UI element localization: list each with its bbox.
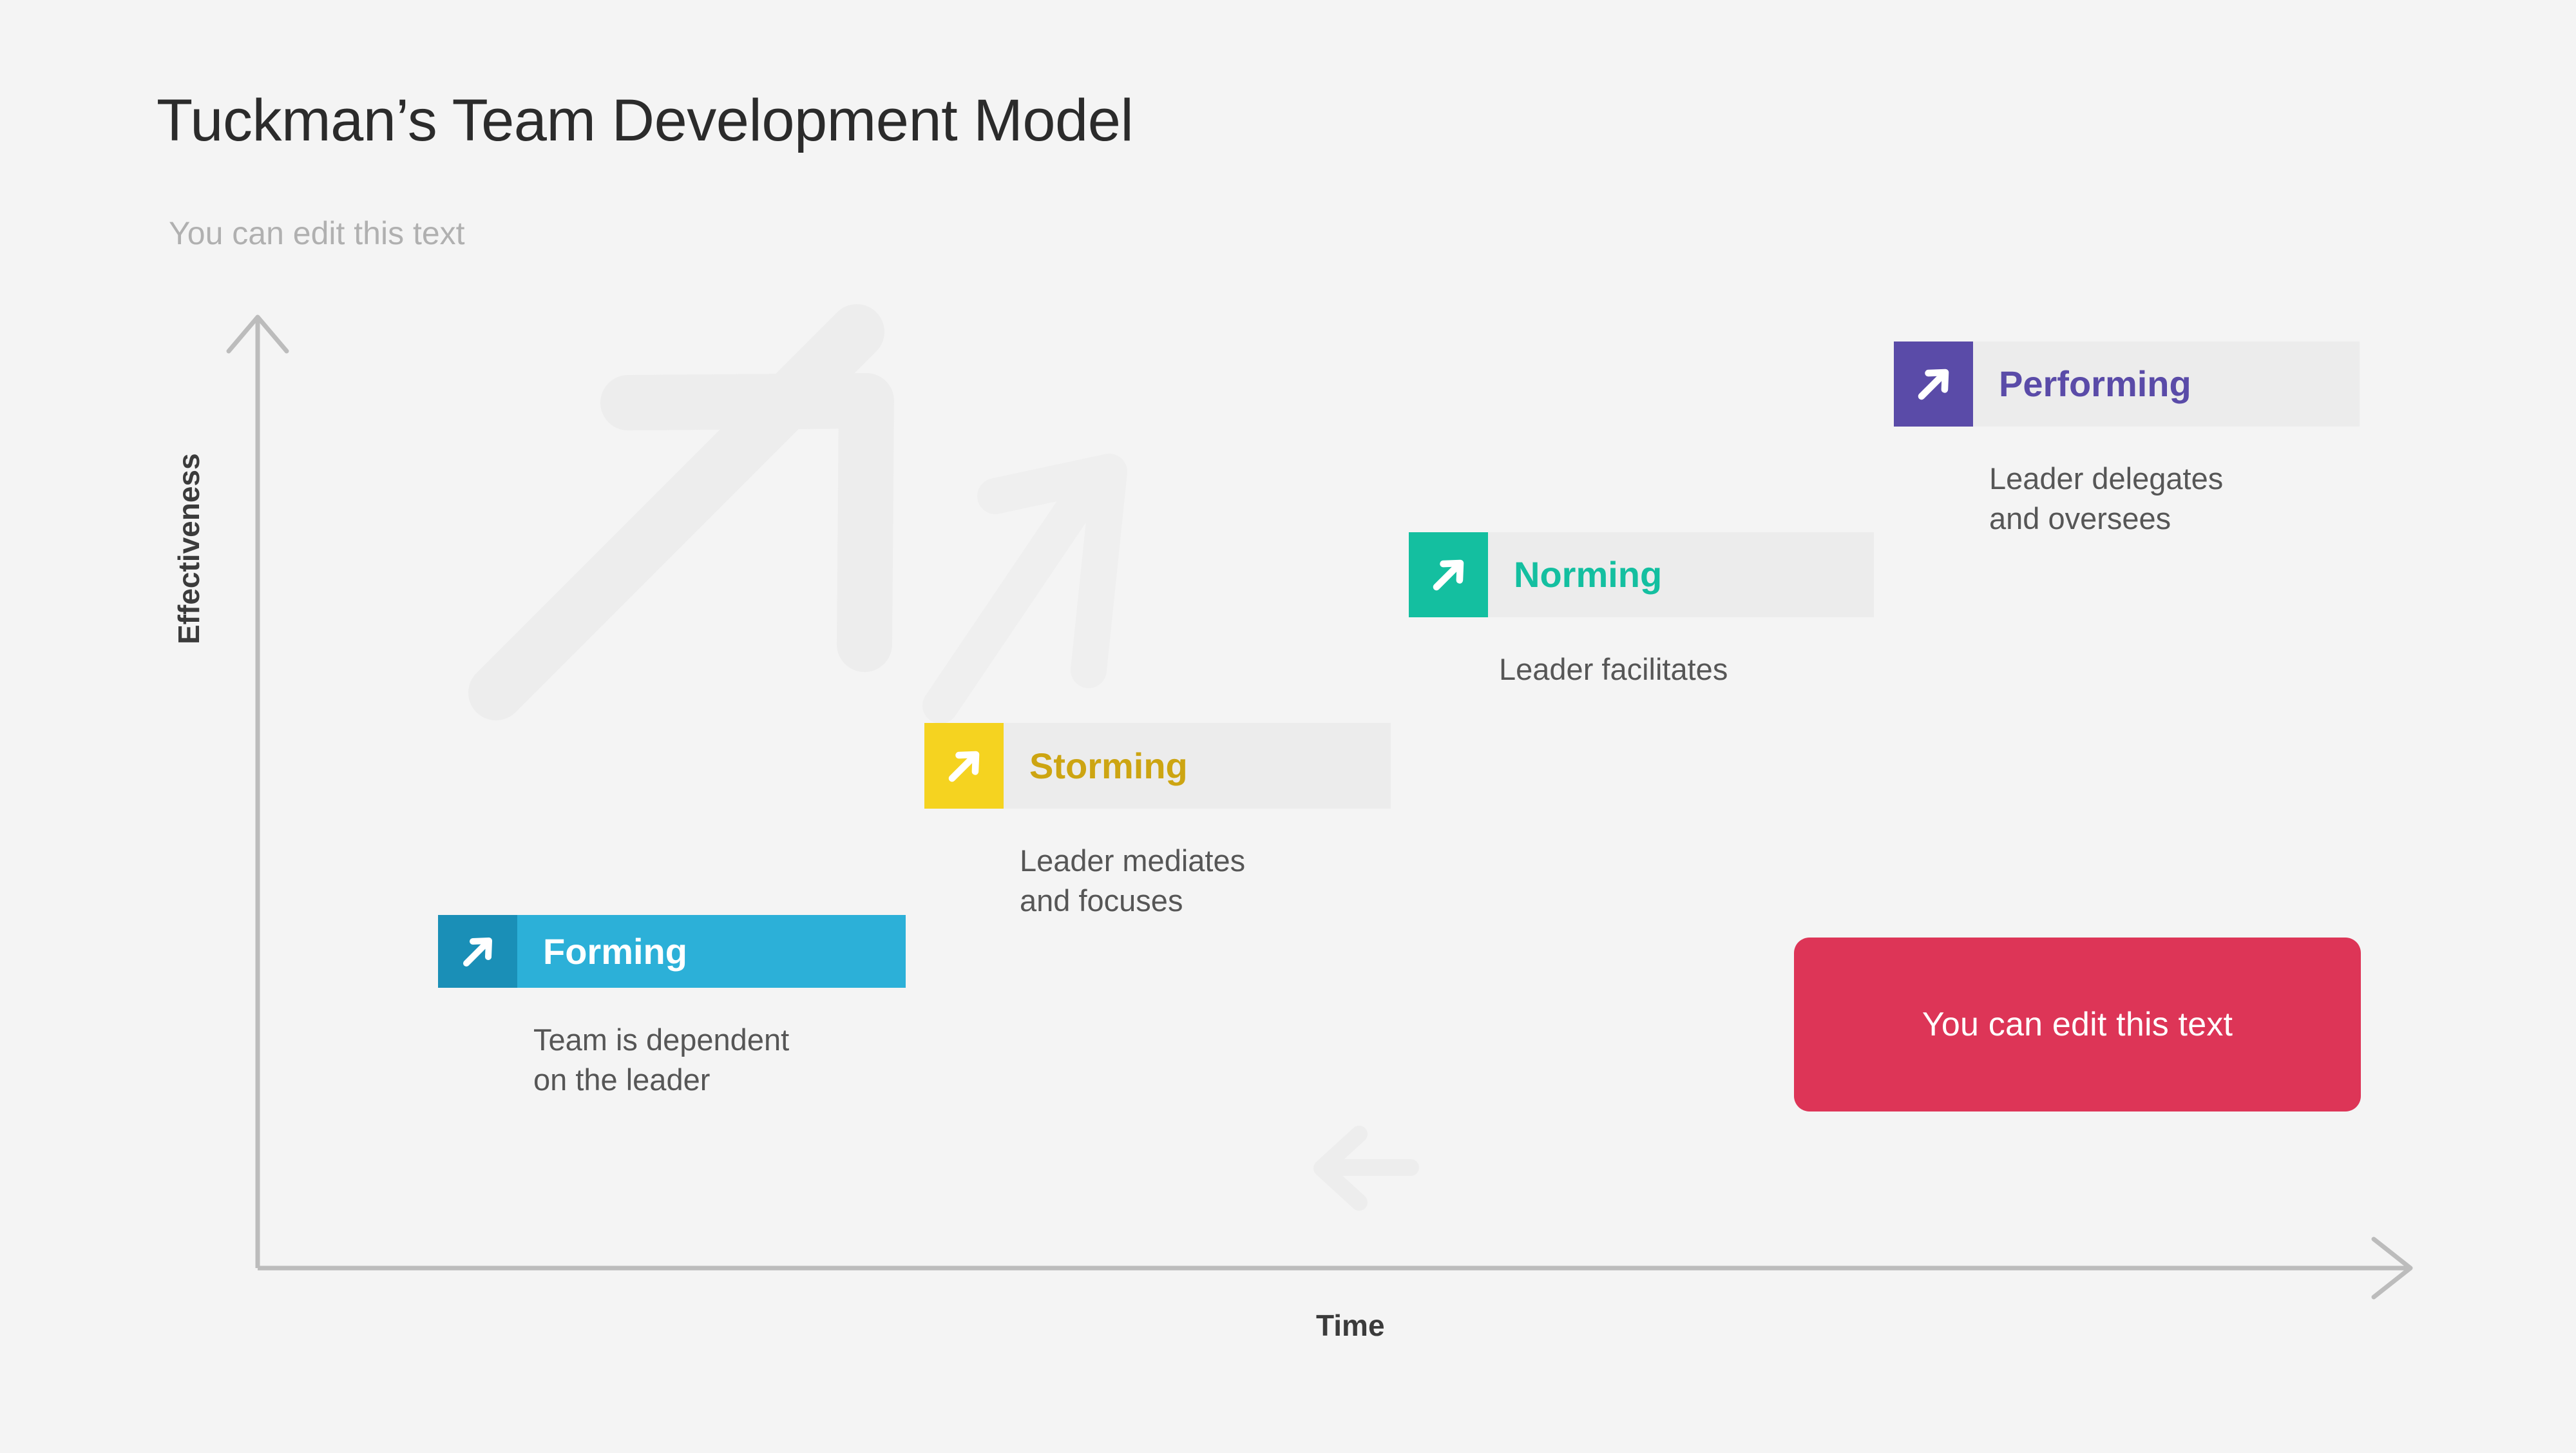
- stage-description-forming: Team is dependent on the leader: [533, 1020, 933, 1100]
- stage-label-box-forming: Forming: [517, 915, 906, 988]
- stage-label-performing: Performing: [1973, 366, 2191, 402]
- x-axis: [258, 1239, 2410, 1297]
- slide-canvas: Tuckman’s Team Development Model You can…: [0, 0, 2576, 1450]
- arrow-up-right-icon: [1894, 342, 1973, 427]
- stage-description-line: and focuses: [1020, 881, 1419, 921]
- stage-description-storming: Leader mediates and focuses: [1020, 841, 1419, 921]
- arrow-up-right-icon: [1409, 532, 1488, 617]
- stage-label-storming: Storming: [1004, 748, 1188, 784]
- stage-description-performing: Leader delegates and oversees: [1989, 459, 2389, 539]
- y-axis-label: Effectiveness: [171, 387, 206, 644]
- x-axis-label: Time: [1316, 1308, 1385, 1343]
- stage-description-line: and oversees: [1989, 499, 2389, 539]
- editable-text-button[interactable]: You can edit this text: [1794, 938, 2361, 1111]
- stage-description-norming: Leader facilitates: [1499, 650, 1898, 689]
- stage-label-norming: Norming: [1488, 557, 1662, 593]
- stage-label-box-storming: Storming: [1004, 723, 1391, 809]
- stage-description-line: on the leader: [533, 1060, 933, 1100]
- stage-description-line: Leader facilitates: [1499, 650, 1898, 689]
- arrow-up-right-icon: [438, 915, 517, 988]
- stage-label-forming: Forming: [517, 934, 687, 970]
- stage-description-line: Leader mediates: [1020, 841, 1419, 881]
- stage-label-box-norming: Norming: [1488, 532, 1874, 617]
- stage-description-line: Leader delegates: [1989, 459, 2389, 499]
- y-axis: [229, 317, 287, 1268]
- stage-label-box-performing: Performing: [1973, 342, 2360, 427]
- arrow-up-right-icon: [924, 723, 1004, 809]
- stage-description-line: Team is dependent: [533, 1020, 933, 1060]
